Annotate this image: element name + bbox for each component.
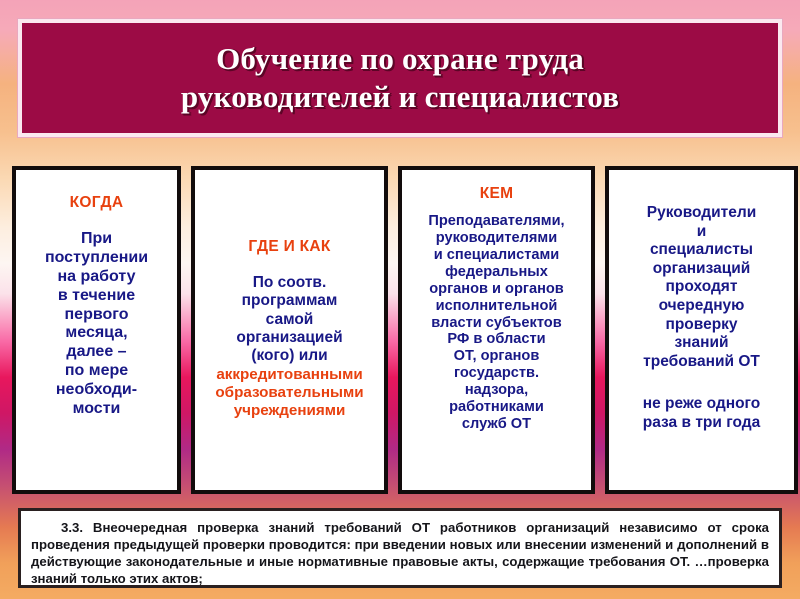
bottom-note-text: 3.3. Внеочередная проверка знаний требов… bbox=[31, 519, 769, 588]
column-by-whom-body: Преподавателями, руководителями и специа… bbox=[428, 213, 564, 433]
bottom-note-box: 3.3. Внеочередная проверка знаний требов… bbox=[18, 508, 782, 588]
column-where-how-heading: ГДЕ И КАК bbox=[248, 238, 330, 256]
column-when-body: При поступлении на работу в течение перв… bbox=[45, 230, 148, 419]
column-periodicity-body: Руководители и специалисты организаций п… bbox=[643, 204, 760, 371]
column-where-how-body: По соотв. программам самой организацией … bbox=[236, 274, 342, 365]
column-by-whom-heading: КЕМ bbox=[480, 185, 514, 203]
columns-row: КОГДА При поступлении на работу в течени… bbox=[12, 166, 788, 494]
column-where-how-accent: аккредитованными образовательными учрежд… bbox=[215, 366, 363, 420]
column-where-how: ГДЕ И КАК По соотв. программам самой орг… bbox=[191, 166, 388, 494]
title-banner: Обучение по охране труда руководителей и… bbox=[18, 19, 782, 137]
column-periodicity: Руководители и специалисты организаций п… bbox=[605, 166, 798, 494]
page-title: Обучение по охране труда руководителей и… bbox=[165, 40, 635, 116]
column-when-heading: КОГДА bbox=[70, 194, 124, 212]
column-periodicity-tail: не реже одного раза в три года bbox=[643, 395, 761, 432]
slide-root: Обучение по охране труда руководителей и… bbox=[0, 0, 800, 599]
column-by-whom: КЕМ Преподавателями, руководителями и сп… bbox=[398, 166, 595, 494]
column-when: КОГДА При поступлении на работу в течени… bbox=[12, 166, 181, 494]
